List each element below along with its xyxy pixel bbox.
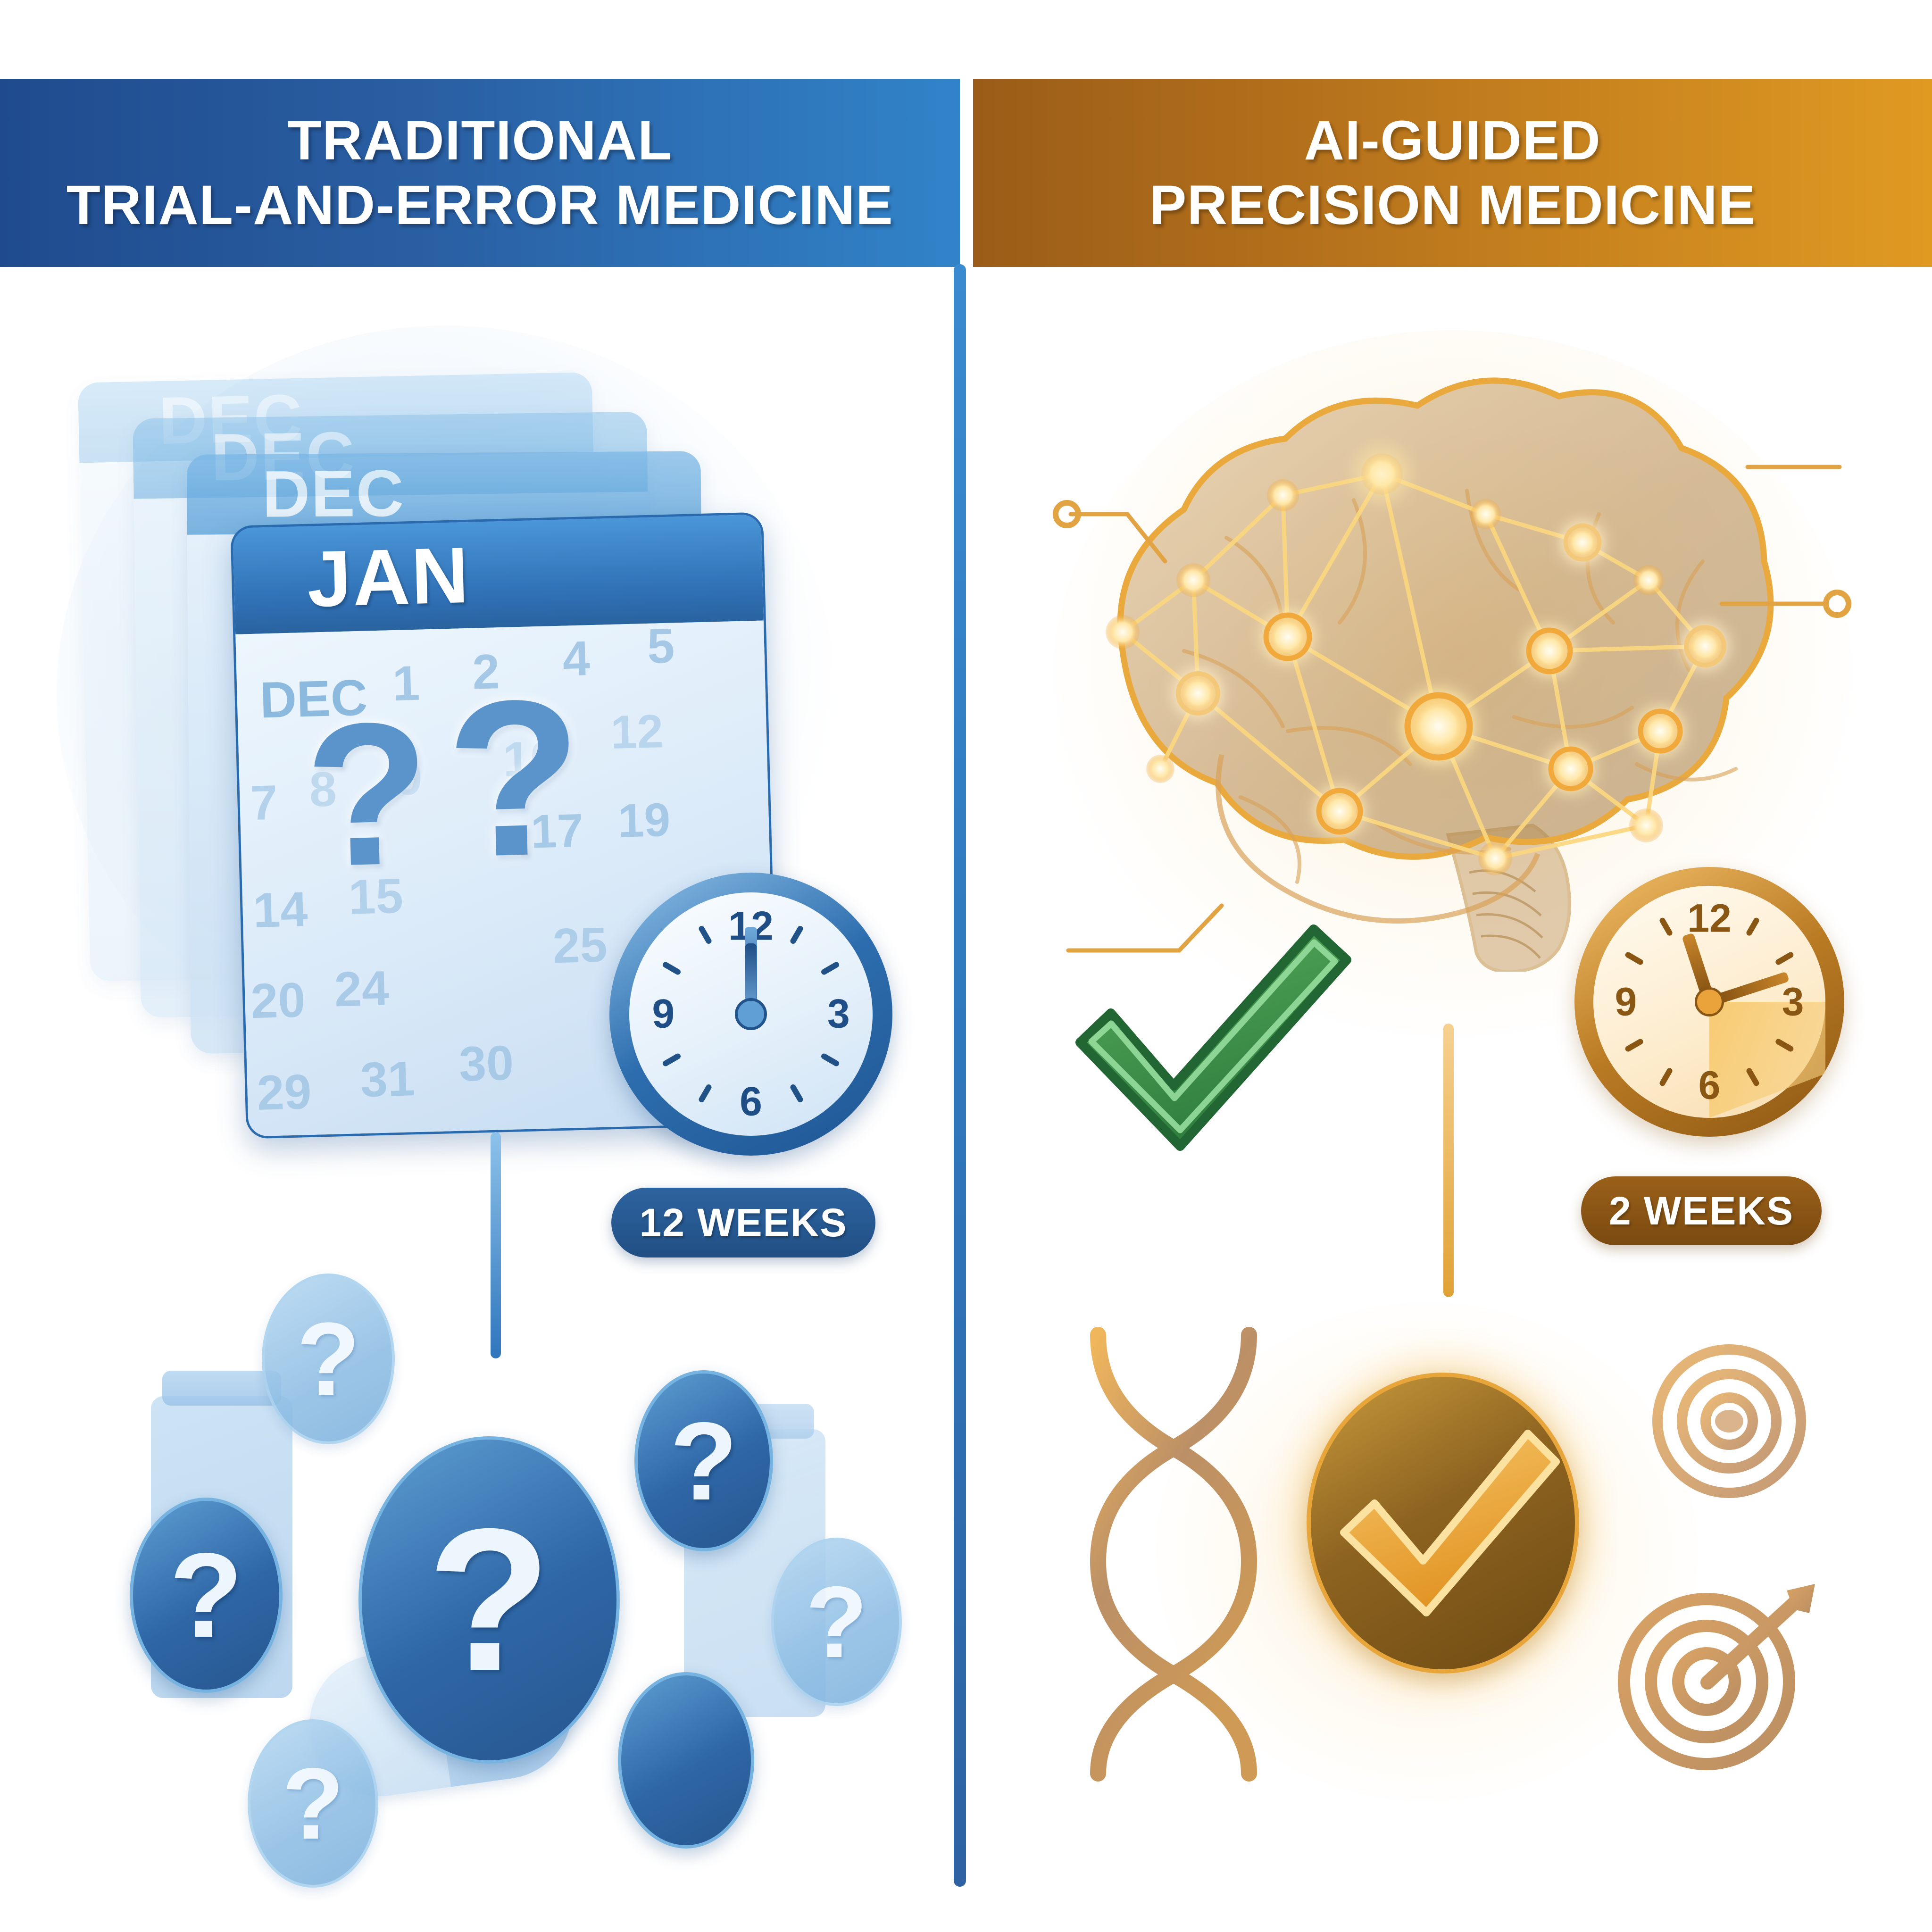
question-bubble: ? [771,1538,902,1706]
clock-tick [1624,951,1644,966]
dna-helix-icon [1070,1321,1277,1788]
gold-checkmark-icon [1311,1377,1575,1669]
clock-numeral: 3 [1782,979,1804,1025]
header-banner-traditional: TRADITIONAL TRIAL-AND-ERROR MEDICINE [0,79,960,267]
clock-12-weeks: 12 3 6 9 [609,873,892,1156]
clock-tick [1658,1067,1673,1087]
date-cell: 5 [647,618,675,675]
question-bubble: ? [248,1719,378,1888]
clock-tick [698,925,712,945]
target-crosshair-icon [1630,1320,1828,1523]
date-cell: 14 [252,882,308,939]
target-arrow-icon [1598,1557,1824,1783]
clock-numeral: 6 [740,1078,762,1125]
question-bubble: ? [634,1370,773,1551]
badge-12-weeks: 12 WEEKS [611,1188,875,1257]
clock-2-weeks: 12 3 6 9 [1574,867,1844,1137]
clock-tick [662,1052,682,1067]
date-cell: 19 [617,793,671,849]
clock-numeral: 3 [827,991,850,1038]
clock-elapsed-wedge [1709,1002,1825,1118]
header-line-2: TRIAL-AND-ERROR MEDICINE [67,174,893,236]
question-mark-glyph: ? [303,700,432,890]
connector-line-right [1443,1024,1454,1297]
clock-numeral: 9 [1615,979,1637,1025]
header-banner-ai: AI-GUIDED PRECISION MEDICINE [973,79,1932,267]
clock-face: 12 3 6 9 [1593,886,1825,1118]
question-mark-glyph: ? [444,675,585,883]
clock-tick [789,925,804,945]
header-line-1: TRADITIONAL [287,109,672,172]
clock-tick [662,961,682,975]
header-title-traditional: TRADITIONAL TRIAL-AND-ERROR MEDICINE [67,108,893,238]
question-bubble-main: ? [358,1436,620,1764]
clock-numeral: 6 [1699,1063,1721,1108]
clock-tick [1774,951,1794,966]
clock-numeral: 12 [1687,895,1731,941]
calendar-main-month: JAN [233,530,471,627]
date-cell: 29 [256,1064,312,1122]
clock-center-pin [735,998,767,1030]
header-line-1: AI-GUIDED [1304,109,1601,172]
infographic-canvas: TRADITIONAL TRIAL-AND-ERROR MEDICINE AI-… [0,0,1932,1932]
clock-tick [1624,1038,1644,1052]
green-checkmark-icon [1057,910,1368,1165]
badge-2-weeks: 2 WEEKS [1581,1176,1822,1245]
clock-tick [1745,916,1760,936]
clock-tick [698,1083,712,1103]
question-bubble [618,1672,754,1849]
header-line-2: PRECISION MEDICINE [1149,174,1756,236]
date-cell: 20 [250,972,306,1030]
connector-line-left [491,1132,501,1358]
clock-tick [820,961,840,975]
date-cell: 7 [250,775,278,832]
clock-tick [820,1052,840,1067]
panel-divider [954,264,966,1887]
header-title-ai: AI-GUIDED PRECISION MEDICINE [1149,108,1756,238]
gold-check-circle [1307,1373,1579,1674]
date-cell: 31 [359,1051,416,1108]
date-cell: 30 [458,1035,515,1093]
date-cell: 12 [610,704,664,760]
date-cell: 25 [552,917,608,974]
question-bubble: ? [262,1274,395,1444]
clock-face: 12 3 6 9 [629,892,873,1136]
calendar-month-label: DEC [187,455,405,533]
date-cell: 24 [333,961,390,1018]
question-bubble: ? [130,1498,283,1693]
clock-tick [1658,916,1673,936]
clock-tick [789,1083,804,1103]
clock-numeral: 9 [652,991,675,1038]
clock-center-pin [1695,987,1724,1016]
